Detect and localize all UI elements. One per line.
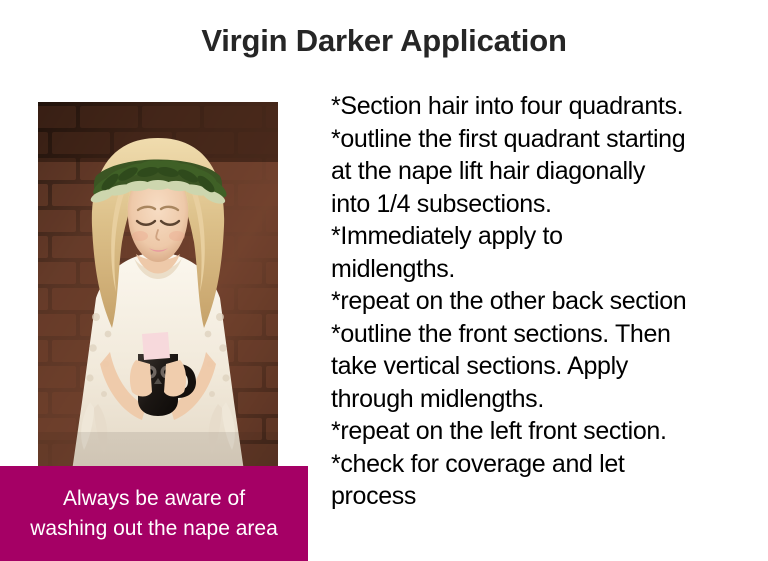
presentation-slide: Virgin Darker Application [0,0,768,561]
instruction-line: *Section hair into four quadrants. [331,90,763,123]
instruction-line: into 1/4 subsections. [331,188,763,221]
instruction-line: *repeat on the other back section [331,285,763,318]
instruction-line: *check for coverage and let [331,448,763,481]
slide-photo [38,102,278,471]
caption-banner: Always be aware of washing out the nape … [0,466,308,561]
instruction-line: midlengths. [331,253,763,286]
instruction-list: *Section hair into four quadrants. *outl… [331,90,763,513]
instruction-line: *repeat on the left front section. [331,415,763,448]
instruction-line: process [331,480,763,513]
instruction-line: through midlengths. [331,383,763,416]
instruction-line: *outline the first quadrant starting [331,123,763,156]
caption-line-2: washing out the nape area [30,514,278,544]
caption-line-1: Always be aware of [63,484,245,514]
page-title: Virgin Darker Application [0,22,768,60]
instruction-line: *Immediately apply to [331,220,763,253]
girl-with-leaf-crown-photo [38,102,278,471]
instruction-line: take vertical sections. Apply [331,350,763,383]
instruction-line: *outline the front sections. Then [331,318,763,351]
instruction-line: at the nape lift hair diagonally [331,155,763,188]
